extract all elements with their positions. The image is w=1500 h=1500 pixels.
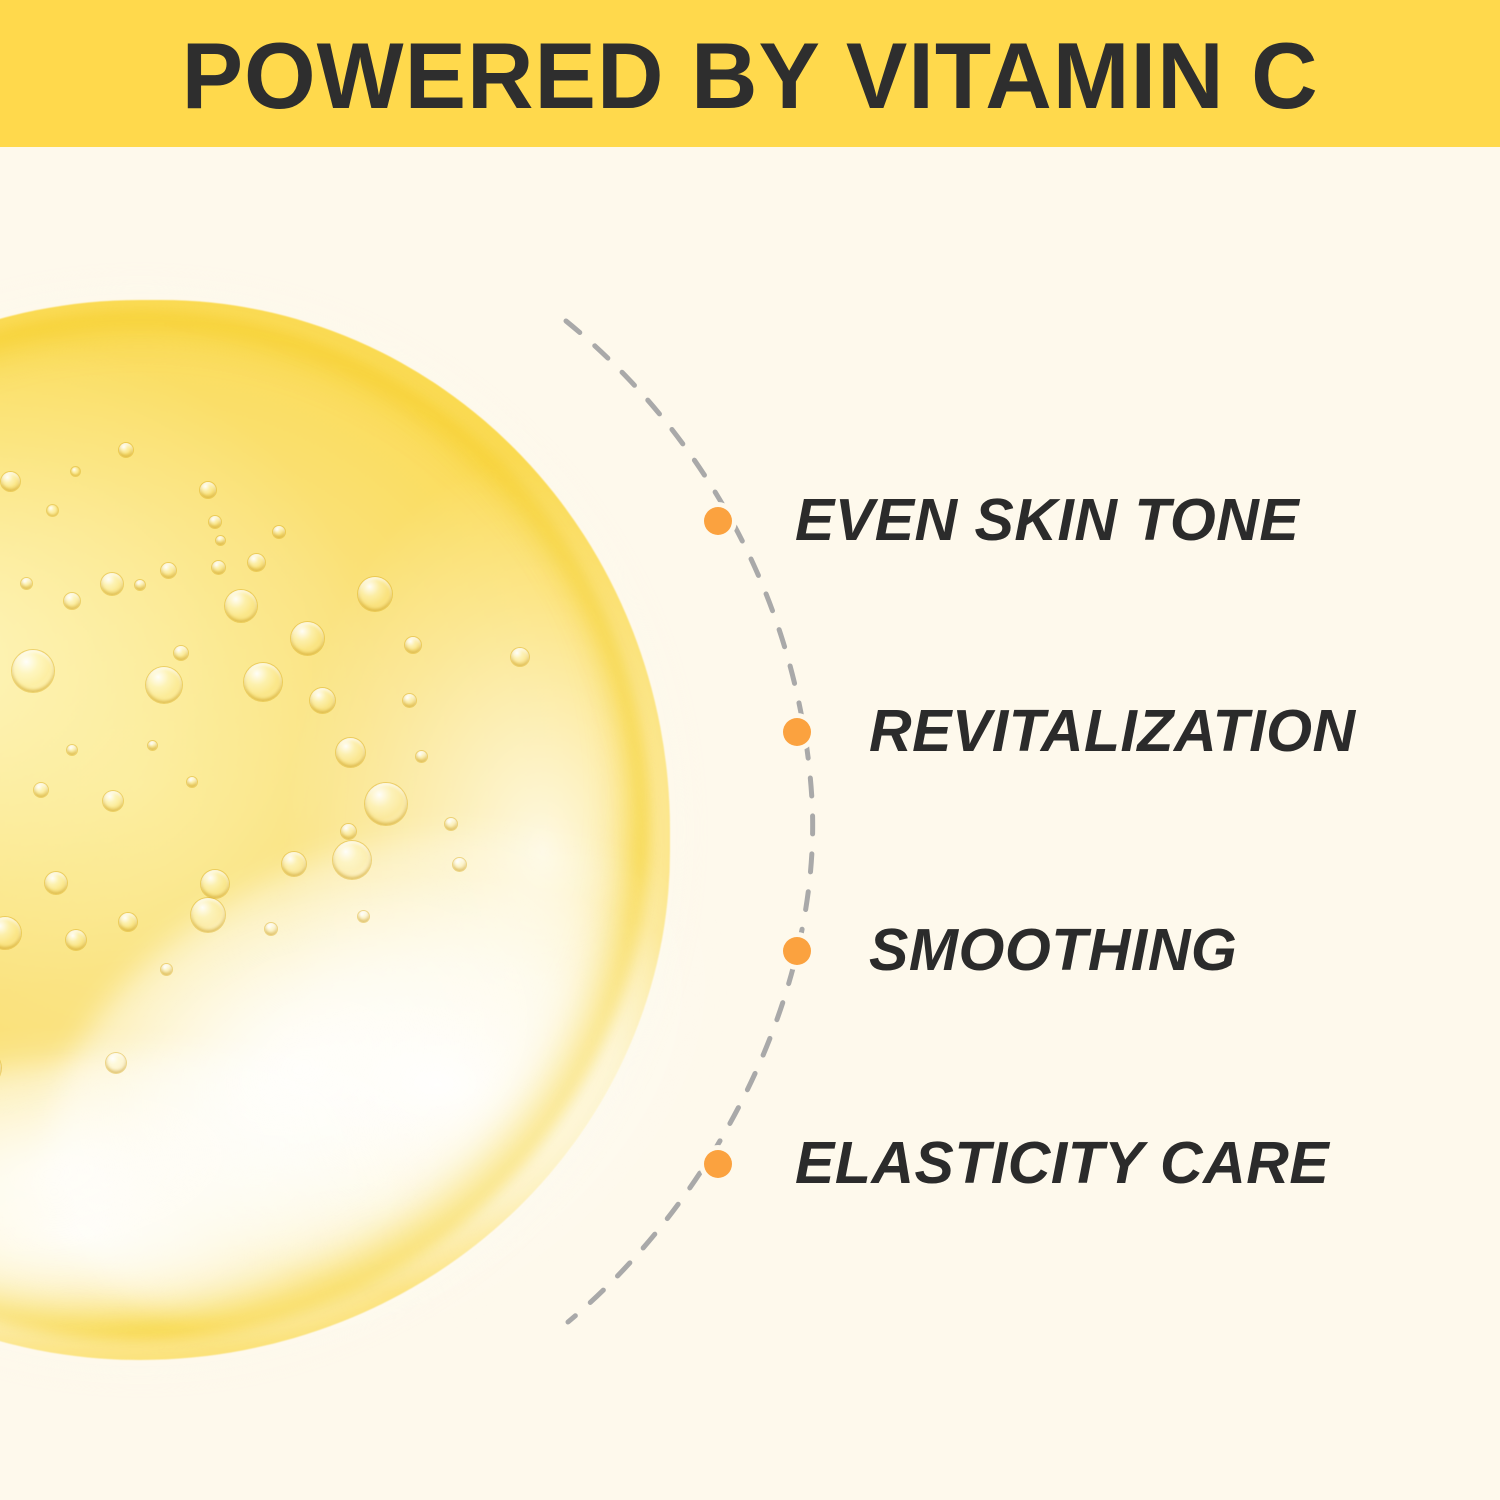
gel-bubble — [146, 667, 182, 703]
gel-bubble — [201, 870, 229, 898]
benefit-label: SMOOTHING — [869, 921, 1237, 980]
gel-bubble — [21, 578, 32, 589]
gel-bubble — [71, 467, 80, 476]
header-banner: POWERED BY VITAMIN C — [0, 0, 1500, 147]
gel-bubble — [333, 841, 371, 879]
gel-bubble — [310, 688, 335, 713]
gel-bubble — [365, 783, 407, 825]
gel-drop-highlight-secondary — [0, 1011, 452, 1390]
gel-bubble — [282, 852, 306, 876]
gel-bubble — [405, 637, 421, 653]
gel-bubble — [209, 516, 221, 528]
benefit-item-even-skin-tone[interactable]: EVEN SKIN TONE — [704, 491, 1299, 550]
gel-bubble — [174, 646, 188, 660]
gel-bubble — [358, 577, 392, 611]
gel-bubble — [45, 872, 67, 894]
gel-bubble — [291, 622, 324, 655]
gel-bubble — [336, 738, 365, 767]
benefit-label: REVITALIZATION — [869, 702, 1356, 761]
gel-bubble — [12, 650, 54, 692]
gel-bubble — [103, 791, 123, 811]
gel-bubble — [212, 561, 225, 574]
gel-bubble — [1, 472, 20, 491]
gel-bubble — [445, 818, 457, 830]
gel-bubble — [273, 526, 285, 538]
benefit-item-elasticity-care[interactable]: ELASTICITY CARE — [704, 1134, 1329, 1193]
gel-bubble — [403, 694, 416, 707]
gel-bubble — [119, 913, 137, 931]
gel-bubble — [161, 964, 172, 975]
benefit-bullet-icon — [783, 718, 811, 746]
benefit-item-revitalization[interactable]: REVITALIZATION — [783, 702, 1356, 761]
gel-bubble — [119, 443, 133, 457]
gel-drop-body — [0, 300, 670, 1360]
gel-bubble — [453, 858, 466, 871]
promo-graphic: POWERED BY VITAMIN C — [0, 0, 1500, 1500]
gel-bubble — [148, 741, 157, 750]
gel-drop-highlight-primary — [0, 737, 795, 1432]
gel-bubble — [101, 573, 123, 595]
gel-drop-rim-bottom — [0, 321, 649, 1339]
gel-bubble — [0, 1050, 1, 1086]
gel-bubble — [216, 536, 225, 545]
gel-bubble — [511, 648, 529, 666]
gel-bubble — [248, 554, 265, 571]
gel-bubble — [67, 745, 77, 755]
benefit-label: EVEN SKIN TONE — [795, 491, 1299, 550]
gel-bubble — [135, 580, 145, 590]
gel-drop-image — [0, 300, 670, 1360]
page-title: POWERED BY VITAMIN C — [181, 29, 1318, 123]
gel-bubble — [106, 1053, 126, 1073]
benefit-item-smoothing[interactable]: SMOOTHING — [783, 921, 1237, 980]
gel-bubble — [265, 923, 277, 935]
gel-bubble — [200, 482, 216, 498]
gel-drop-edge-glow — [0, 294, 676, 1366]
gel-bubble — [244, 663, 282, 701]
gel-bubble — [161, 563, 176, 578]
benefit-label: ELASTICITY CARE — [795, 1134, 1329, 1193]
gel-bubble — [341, 824, 356, 839]
gel-bubble — [225, 590, 257, 622]
gel-bubble — [187, 777, 197, 787]
gel-bubble — [0, 917, 21, 949]
gel-bubble — [358, 911, 369, 922]
gel-bubble — [64, 593, 80, 609]
gel-bubble — [47, 505, 58, 516]
gel-bubble — [34, 783, 48, 797]
benefit-bullet-icon — [704, 507, 732, 535]
benefit-bullet-icon — [704, 1150, 732, 1178]
benefit-bullet-icon — [783, 937, 811, 965]
gel-bubble — [191, 898, 225, 932]
gel-bubble — [416, 751, 427, 762]
gel-drop-rim-top — [0, 311, 649, 1339]
gel-bubble — [66, 930, 86, 950]
